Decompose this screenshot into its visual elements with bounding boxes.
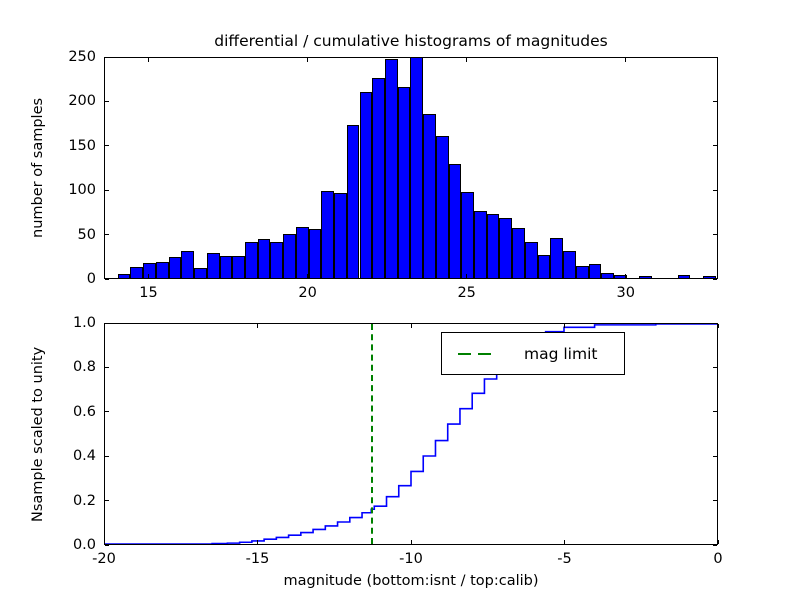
bottom-plot-area [105,324,717,544]
top-xtick-label: 25 [457,285,475,301]
bottom-xtick-label: -5 [557,551,571,567]
bottom-xtick-mark-top [411,324,412,328]
bottom-xtick-mark-top [564,324,565,328]
bottom-ytick-mark [105,411,109,412]
bottom-ytick-mark-right [713,545,717,546]
histogram-bar [639,276,652,278]
bottom-ytick-mark-right [713,367,717,368]
histogram-bar [181,251,194,278]
top-xtick-label: 20 [298,285,316,301]
bottom-xtick-label: 0 [713,551,722,567]
figure: differential / cumulative histograms of … [0,0,800,600]
histogram-bar [232,256,245,278]
top-xtick-label: 30 [617,285,635,301]
histogram-bar [143,263,156,278]
bottom-xtick-label: -15 [246,551,270,567]
histogram-bar [436,136,449,278]
bottom-xtick-mark-top [104,324,105,328]
histogram-bar [449,164,462,278]
histogram-bar [130,267,143,278]
figure-title: differential / cumulative histograms of … [104,32,718,50]
bottom-xtick-mark-top [257,324,258,328]
bottom-xtick-label: -20 [92,551,116,567]
top-xtick-label: 15 [139,285,157,301]
bottom-cumulative-axes [104,323,718,545]
top-ytick-mark [105,57,109,58]
top-ytick-mark [105,190,109,191]
bottom-ytick-mark-right [713,411,717,412]
histogram-bar [576,266,589,278]
histogram-bar [194,268,207,278]
bottom-xtick-mark [718,540,719,544]
bottom-ytick-mark [105,456,109,457]
bottom-xtick-mark-top [718,324,719,328]
top-ytick-mark [105,101,109,102]
histogram-bar [283,234,296,278]
bottom-ytick-label: 0.8 [48,359,96,375]
bottom-ytick-mark-right [713,456,717,457]
top-ytick-mark [105,234,109,235]
histogram-bar [118,274,131,278]
histogram-bar [538,255,551,278]
histogram-bar [334,193,347,278]
histogram-bar [410,58,423,278]
top-ytick-mark [105,279,109,280]
histogram-bar [372,78,385,278]
top-histogram-axes [104,57,718,279]
top-ytick-label: 100 [48,182,96,198]
top-ytick-label: 250 [48,49,96,65]
bottom-xtick-mark [104,540,105,544]
top-ytick-label: 50 [48,227,96,243]
top-ytick-mark-right [713,190,717,191]
histogram-bar [347,125,360,278]
top-ytick-mark-right [713,57,717,58]
histogram-bar [487,214,500,278]
top-xtick-mark-top [466,58,467,62]
bottom-ytick-mark-right [713,500,717,501]
legend-label: mag limit [524,345,597,363]
top-ytick-label: 150 [48,138,96,154]
histogram-bar [309,229,322,278]
histogram-bar [563,251,576,278]
histogram-bar [512,228,525,278]
bottom-ytick-label: 0.2 [48,493,96,509]
top-plot-area [105,58,717,278]
histogram-bar [525,242,538,278]
histogram-bar [461,192,474,278]
histogram-bar [321,191,334,278]
mag-limit-vline [371,324,373,544]
bottom-xtick-label: -10 [399,551,423,567]
bottom-xtick-mark [257,540,258,544]
top-xtick-mark [307,274,308,278]
legend-dashed-line-icon [456,348,508,360]
histogram-bar [245,242,258,278]
histogram-bar [385,59,398,278]
cumulative-curve [105,324,717,544]
histogram-bar [156,262,169,278]
bottom-xtick-mark [411,540,412,544]
bottom-ytick-label: 0.6 [48,404,96,420]
histogram-bar [360,92,373,278]
top-ytick-mark-right [713,101,717,102]
histogram-bar [169,257,182,278]
histogram-bar [423,114,436,278]
top-ytick-label: 0 [48,271,96,287]
histogram-bar [678,275,691,278]
histogram-bar [207,253,220,278]
top-xtick-mark-top [307,58,308,62]
histogram-bar [550,238,563,278]
top-xtick-mark [625,274,626,278]
top-xtick-mark-top [148,58,149,62]
bottom-ytick-label: 1.0 [48,315,96,331]
histogram-bar [601,273,614,278]
top-xtick-mark [466,274,467,278]
bottom-xtick-mark [564,540,565,544]
bottom-ytick-mark [105,545,109,546]
histogram-bar [270,242,283,278]
histogram-bar [589,264,602,278]
top-ytick-mark [105,145,109,146]
legend[interactable]: mag limit [441,332,625,375]
histogram-bar [220,256,233,278]
top-xtick-mark [148,274,149,278]
histogram-bar [398,87,411,278]
bottom-ytick-mark [105,500,109,501]
bottom-ytick-mark [105,367,109,368]
histogram-bar [499,218,512,278]
bottom-ytick-mark-right [713,323,717,324]
bottom-ylabel: Nsample scaled to unity [30,346,46,521]
histogram-bar [296,227,309,279]
top-ytick-mark-right [713,279,717,280]
top-ytick-mark-right [713,234,717,235]
bottom-ytick-label: 0.4 [48,448,96,464]
top-xtick-mark-top [625,58,626,62]
top-ytick-label: 200 [48,93,96,109]
bottom-ytick-mark [105,323,109,324]
top-ytick-mark-right [713,145,717,146]
bottom-xlabel: magnitude (bottom:isnt / top:calib) [284,573,539,589]
top-ylabel: number of samples [30,98,46,238]
histogram-bar [258,239,271,278]
histogram-bar [474,211,487,278]
bottom-ytick-label: 0.0 [48,537,96,553]
